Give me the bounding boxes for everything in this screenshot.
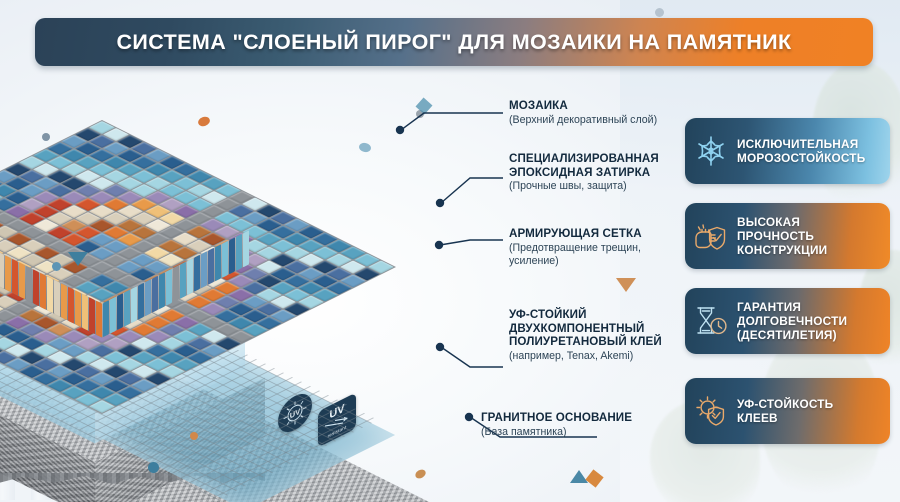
sun-shield-icon xyxy=(685,394,737,428)
label-mosaic-subtitle: (Верхний декоративный слой) xyxy=(509,114,657,127)
hourglass-clock-icon xyxy=(685,304,737,338)
decor-triangle-1 xyxy=(68,252,88,266)
page-title-banner: СИСТЕМА "СЛОЕНЫЙ ПИРОГ" ДЛЯ МОЗАИКИ НА П… xyxy=(35,18,873,66)
feature-card-frost-resistance[interactable]: ИСКЛЮЧИТЕЛЬНАЯ МОРОЗОСТОЙКОСТЬ xyxy=(685,118,890,184)
feature-durability-line3: (ДЕСЯТИЛЕТИЯ) xyxy=(737,328,847,342)
label-mosaic: МОЗАИКА (Верхний декоративный слой) xyxy=(509,99,657,127)
label-adhesive-title2: ДВУХКОМПОНЕНТНЫЙ xyxy=(509,322,662,336)
label-adhesive-subtitle: (например, Tenax, Akemi) xyxy=(509,350,662,363)
label-mesh-title: АРМИРУЮЩАЯ СЕТКА xyxy=(509,227,642,241)
feature-durability-line2: ДОЛГОВЕЧНОСТИ xyxy=(737,314,847,328)
decor-dot-6 xyxy=(148,462,159,473)
decor-dot-7 xyxy=(190,432,198,440)
label-mesh: АРМИРУЮЩАЯ СЕТКА (Предотвращение трещин,… xyxy=(509,227,642,268)
label-grout-title2: ЭПОКСИДНАЯ ЗАТИРКА xyxy=(509,166,659,180)
decor-triangle-2 xyxy=(616,278,636,292)
feature-frost-line2: МОРОЗОСТОЙКОСТЬ xyxy=(737,151,865,165)
label-granite-title: ГРАНИТНОЕ ОСНОВАНИЕ xyxy=(481,411,632,425)
label-mesh-subtitle: (Предотвращение трещин, xyxy=(509,242,642,255)
label-grout: СПЕЦИАЛИЗИРОВАННАЯ ЭПОКСИДНАЯ ЗАТИРКА (П… xyxy=(509,152,659,193)
decor-dot-9 xyxy=(655,8,664,17)
label-mesh-subtitle2: усиление) xyxy=(509,255,642,268)
label-adhesive: УФ-СТОЙКИЙ ДВУХКОМПОНЕНТНЫЙ ПОЛИУРЕТАНОВ… xyxy=(509,308,662,363)
infographic-canvas: СИСТЕМА "СЛОЕНЫЙ ПИРОГ" ДЛЯ МОЗАИКИ НА П… xyxy=(0,0,900,502)
label-mosaic-title: МОЗАИКА xyxy=(509,99,657,113)
feature-uv-line1: УФ-СТОЙКОСТЬ xyxy=(737,397,833,411)
label-granite: ГРАНИТНОЕ ОСНОВАНИЕ (База памятника) xyxy=(481,411,632,439)
feature-strength-line2: ПРОЧНОСТЬ xyxy=(737,229,827,243)
label-adhesive-title3: ПОЛИУРЕТАНОВЫЙ КЛЕЙ xyxy=(509,335,662,349)
decor-dot-2 xyxy=(42,133,50,141)
feature-card-strength-text: ВЫСОКАЯ ПРОЧНОСТЬ КОНСТРУКЦИИ xyxy=(737,215,833,258)
feature-card-strength[interactable]: ВЫСОКАЯ ПРОЧНОСТЬ КОНСТРУКЦИИ xyxy=(685,203,890,269)
feature-card-uv-text: УФ-СТОЙКОСТЬ КЛЕЕВ xyxy=(737,397,839,425)
feature-card-frost-text: ИСКЛЮЧИТЕЛЬНАЯ МОРОЗОСТОЙКОСТЬ xyxy=(737,137,871,165)
snowflake-icon xyxy=(685,134,737,168)
feature-strength-line1: ВЫСОКАЯ xyxy=(737,215,827,229)
decor-dot-5 xyxy=(52,262,61,271)
label-grout-title: СПЕЦИАЛИЗИРОВАННАЯ xyxy=(509,152,659,166)
feature-card-uv-resistance[interactable]: УФ-СТОЙКОСТЬ КЛЕЕВ xyxy=(685,378,890,444)
feature-strength-line3: КОНСТРУКЦИИ xyxy=(737,243,827,257)
label-adhesive-title: УФ-СТОЙКИЙ xyxy=(509,308,662,322)
fist-shield-icon xyxy=(685,219,737,253)
feature-uv-line2: КЛЕЕВ xyxy=(737,411,833,425)
feature-card-durability-text: ГАРАНТИЯ ДОЛГОВЕЧНОСТИ (ДЕСЯТИЛЕТИЯ) xyxy=(737,300,853,343)
feature-frost-line1: ИСКЛЮЧИТЕЛЬНАЯ xyxy=(737,137,865,151)
label-granite-subtitle: (База памятника) xyxy=(481,426,632,439)
page-title: СИСТЕМА "СЛОЕНЫЙ ПИРОГ" ДЛЯ МОЗАИКИ НА П… xyxy=(116,30,791,55)
decor-triangle-3 xyxy=(570,470,588,483)
layer-stack-illustration: UV UV resistant xyxy=(40,80,510,480)
feature-durability-line1: ГАРАНТИЯ xyxy=(737,300,847,314)
label-grout-subtitle: (Прочные швы, защита) xyxy=(509,180,659,193)
feature-card-durability[interactable]: ГАРАНТИЯ ДОЛГОВЕЧНОСТИ (ДЕСЯТИЛЕТИЯ) xyxy=(685,288,890,354)
